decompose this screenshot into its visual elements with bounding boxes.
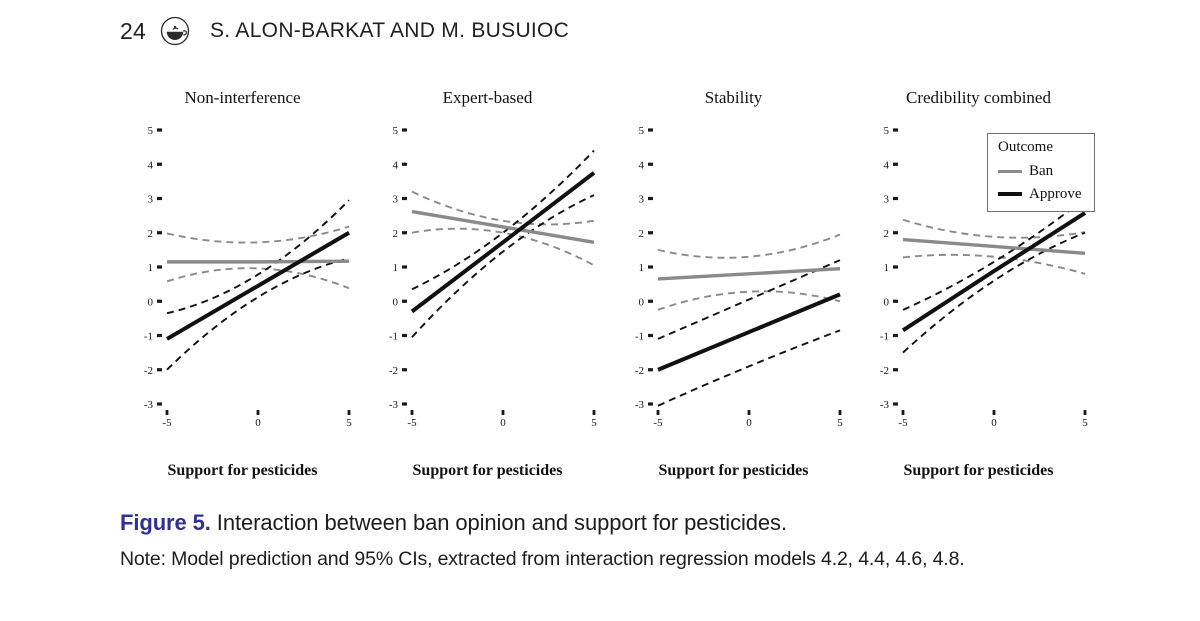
figure-caption-label: Figure 5.	[120, 510, 211, 535]
svg-text:4: 4	[393, 159, 399, 171]
svg-text:-5: -5	[898, 417, 908, 429]
svg-text:-5: -5	[653, 417, 663, 429]
svg-text:5: 5	[148, 125, 154, 137]
svg-text:-3: -3	[389, 399, 399, 411]
svg-text:-3: -3	[880, 399, 890, 411]
svg-text:5: 5	[639, 125, 645, 137]
svg-text:5: 5	[837, 417, 843, 429]
panel-plot-area: -3-2-1012345-505	[365, 116, 610, 446]
page-number: 24	[120, 18, 146, 45]
svg-text:1: 1	[639, 262, 645, 274]
svg-text:0: 0	[393, 296, 399, 308]
svg-text:2: 2	[639, 228, 645, 240]
chart-panel-stability: Stability-3-2-1012345-505Support for pes…	[611, 88, 856, 488]
chart-legend: Outcome Ban Approve	[987, 133, 1095, 212]
svg-text:-3: -3	[635, 399, 645, 411]
panel-x-axis-label: Support for pesticides	[856, 462, 1101, 480]
svg-text:-1: -1	[144, 331, 153, 343]
svg-text:1: 1	[884, 262, 890, 274]
panel-x-axis-label: Support for pesticides	[365, 462, 610, 480]
svg-text:5: 5	[346, 417, 352, 429]
svg-text:3: 3	[884, 194, 890, 206]
svg-text:1: 1	[393, 262, 399, 274]
figure-caption: Figure 5. Interaction between ban opinio…	[120, 508, 1100, 538]
svg-text:5: 5	[393, 125, 399, 137]
svg-text:4: 4	[884, 159, 890, 171]
svg-text:5: 5	[884, 125, 890, 137]
svg-text:2: 2	[148, 228, 154, 240]
svg-text:2: 2	[884, 228, 890, 240]
legend-label-approve: Approve	[1029, 186, 1082, 203]
chart-panel-expert-based: Expert-based-3-2-1012345-505Support for …	[365, 88, 610, 488]
svg-text:0: 0	[746, 417, 752, 429]
running-head-title: S. ALON-BARKAT AND M. BUSUIOC	[210, 19, 569, 43]
svg-text:-5: -5	[407, 417, 417, 429]
svg-text:0: 0	[884, 296, 890, 308]
panel-plot-area: -3-2-1012345-505	[611, 116, 856, 446]
panel-title: Stability	[611, 88, 856, 108]
panel-x-axis-label: Support for pesticides	[120, 462, 365, 480]
svg-text:0: 0	[255, 417, 261, 429]
svg-text:1: 1	[148, 262, 154, 274]
svg-text:-2: -2	[880, 365, 889, 377]
svg-text:0: 0	[148, 296, 154, 308]
svg-text:0: 0	[991, 417, 997, 429]
svg-text:5: 5	[1082, 417, 1088, 429]
figure-caption-text: Interaction between ban opinion and supp…	[211, 510, 787, 535]
svg-text:-5: -5	[162, 417, 172, 429]
svg-text:0: 0	[500, 417, 506, 429]
svg-text:3: 3	[393, 194, 399, 206]
running-head: 24 S. ALON-BARKAT AND M. BUSUIOC	[120, 10, 569, 52]
figure-note: Note: Model prediction and 95% CIs, extr…	[120, 546, 1100, 572]
svg-text:-2: -2	[389, 365, 398, 377]
panel-title: Credibility combined	[856, 88, 1101, 108]
svg-text:3: 3	[148, 194, 154, 206]
legend-item-approve: Approve	[998, 183, 1094, 206]
panel-title: Expert-based	[365, 88, 610, 108]
legend-swatch-ban-icon	[998, 170, 1022, 173]
svg-text:4: 4	[148, 159, 154, 171]
svg-text:-2: -2	[635, 365, 644, 377]
svg-text:5: 5	[591, 417, 597, 429]
svg-text:0: 0	[639, 296, 645, 308]
legend-item-ban: Ban	[998, 160, 1094, 183]
legend-swatch-approve-icon	[998, 192, 1022, 196]
svg-text:-2: -2	[144, 365, 153, 377]
svg-text:3: 3	[639, 194, 645, 206]
svg-text:-1: -1	[389, 331, 398, 343]
svg-text:-1: -1	[635, 331, 644, 343]
figure-caption-block: Figure 5. Interaction between ban opinio…	[120, 508, 1100, 573]
chart-panel-non-interference: Non-interference-3-2-1012345-505Support …	[120, 88, 365, 488]
panel-x-axis-label: Support for pesticides	[611, 462, 856, 480]
teapot-journal-logo-icon	[160, 16, 190, 46]
svg-text:-3: -3	[144, 399, 154, 411]
panel-title: Non-interference	[120, 88, 365, 108]
svg-text:-1: -1	[880, 331, 889, 343]
legend-label-ban: Ban	[1029, 163, 1053, 180]
panel-plot-area: -3-2-1012345-505	[120, 116, 365, 446]
svg-text:4: 4	[639, 159, 645, 171]
svg-text:2: 2	[393, 228, 399, 240]
legend-title: Outcome	[998, 140, 1094, 156]
